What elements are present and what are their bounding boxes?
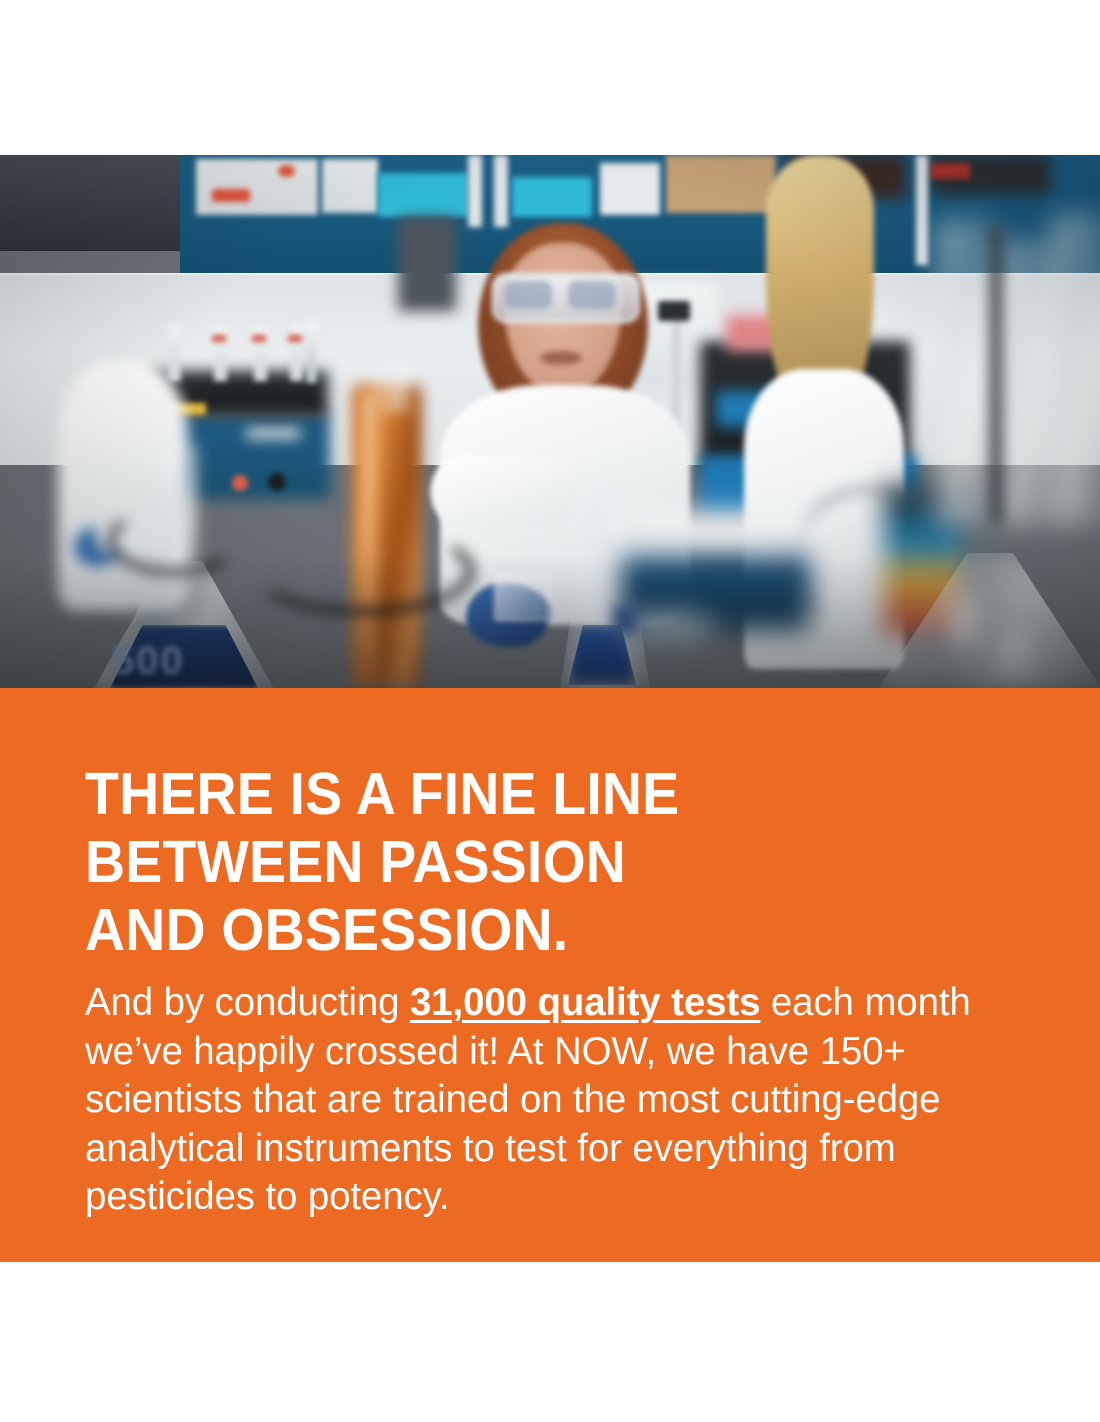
body-copy: And by conducting 31,000 quality tests e… <box>85 979 989 1222</box>
laboratory-photo: 500 <box>0 155 1100 688</box>
photo-bottom-shade <box>0 555 1100 688</box>
page-title: THERE IS A FINE LINE BETWEEN PASSION AND… <box>85 760 959 964</box>
quality-tests-highlight: 31,000 quality tests <box>410 981 760 1024</box>
body-lead: And by conducting <box>85 981 410 1024</box>
marketing-card: 500 THERE IS A FINE LINE BETWEEN PASSION… <box>0 0 1100 1422</box>
orange-message-panel: THERE IS A FINE LINE BETWEEN PASSION AND… <box>0 688 1100 1262</box>
